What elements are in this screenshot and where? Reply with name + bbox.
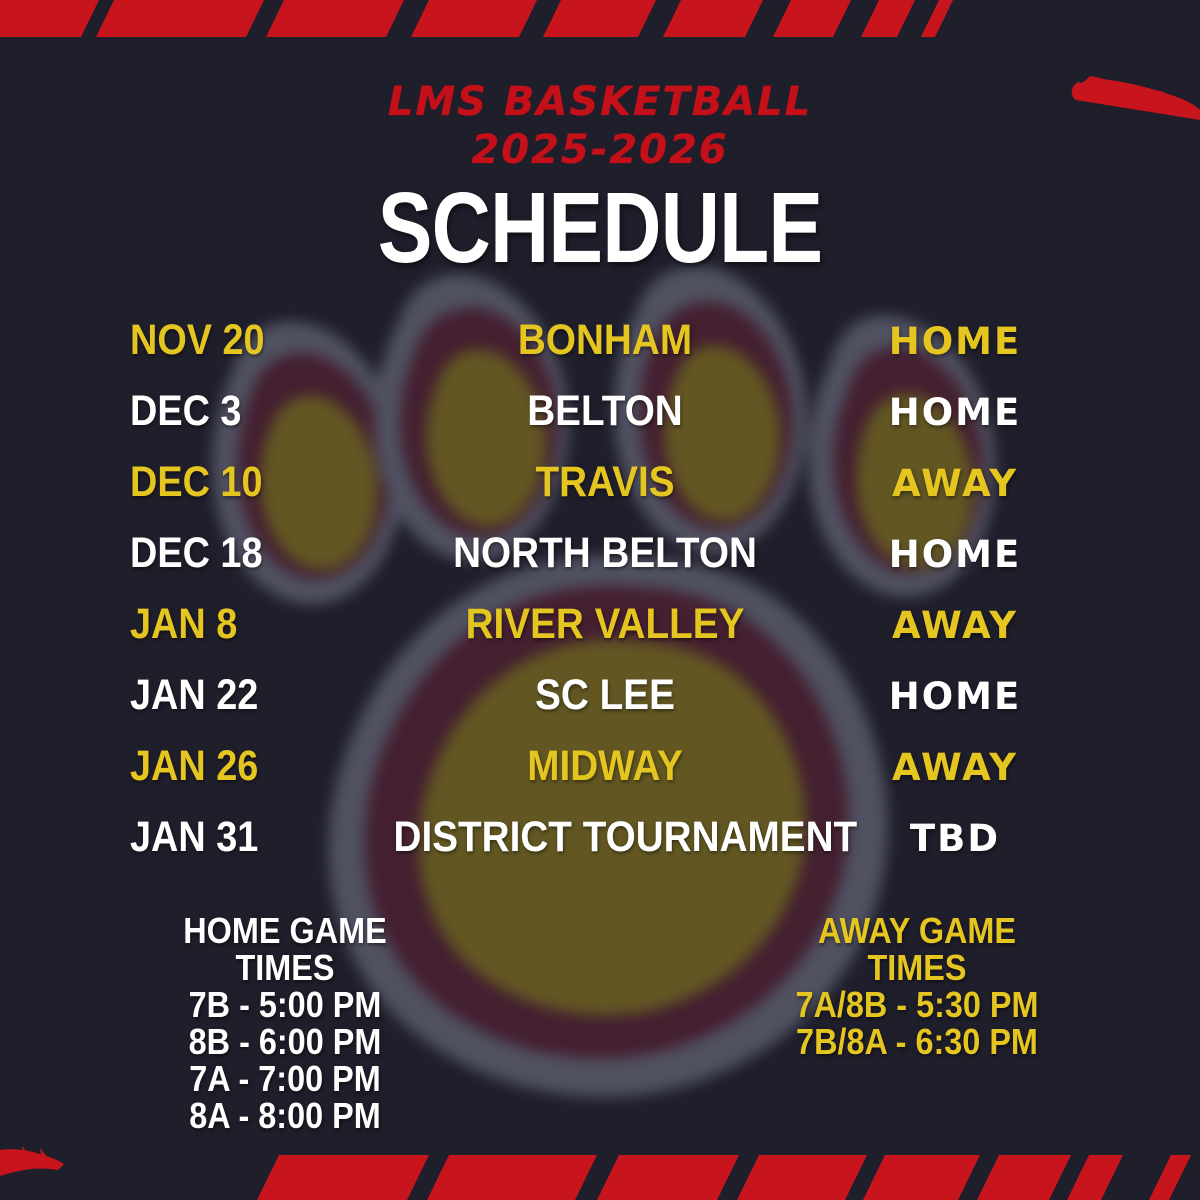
table-row: JAN 31 DISTRICT TOURNAMENT TBD (130, 813, 1070, 884)
home-game-time-line: 8B - 6:00 PM (137, 1023, 434, 1060)
page-title: SCHEDULE (108, 178, 1092, 278)
row-location: AWAY (840, 462, 1070, 505)
schedule-table: NOV 20 BONHAM HOME DEC 3 BELTON HOME DEC… (130, 316, 1070, 884)
row-date: JAN 31 (130, 813, 341, 862)
stripe-top-8 (861, 0, 915, 37)
row-opponent: DISTRICT TOURNAMENT (394, 813, 817, 862)
row-location: AWAY (840, 604, 1070, 647)
row-location: HOME (840, 675, 1070, 718)
stripe-top-3 (266, 0, 404, 37)
row-opponent: MIDWAY (394, 742, 817, 791)
stripe-bottom-1 (257, 1155, 429, 1200)
row-location: HOME (840, 533, 1070, 576)
row-date: DEC 3 (130, 387, 341, 436)
stripe-bottom-5 (863, 1155, 980, 1200)
away-game-times-block: AWAY GAME TIMES 7A/8B - 5:30 PM 7B/8A - … (752, 912, 1082, 1060)
table-row: DEC 3 BELTON HOME (130, 387, 1070, 458)
stripe-top-5 (543, 0, 656, 37)
stripe-top-1 (0, 0, 99, 37)
table-row: NOV 20 BONHAM HOME (130, 316, 1070, 387)
row-location: HOME (840, 320, 1070, 363)
brush-stroke-bottom-left (0, 1140, 70, 1180)
row-opponent: BONHAM (394, 316, 817, 365)
stripe-top-7 (773, 0, 851, 37)
stripe-bottom-2 (427, 1155, 597, 1200)
row-location: AWAY (840, 746, 1070, 789)
table-row: JAN 8 RIVER VALLEY AWAY (130, 600, 1070, 671)
script-subtitle-line2: 2025-2026 (0, 130, 1200, 171)
row-date: DEC 18 (130, 529, 341, 578)
script-subtitle-line1: LMS BASKETBALL (0, 82, 1200, 123)
table-row: JAN 26 MIDWAY AWAY (130, 742, 1070, 813)
row-opponent: SC LEE (394, 671, 817, 720)
home-game-time-line: 7A - 7:00 PM (137, 1060, 434, 1097)
row-opponent: TRAVIS (394, 458, 817, 507)
table-row: JAN 22 SC LEE HOME (130, 671, 1070, 742)
row-date: JAN 22 (130, 671, 341, 720)
stripe-bottom-8 (1149, 1155, 1191, 1200)
home-game-times-heading: HOME GAME TIMES (137, 912, 434, 986)
home-game-time-line: 7B - 5:00 PM (137, 986, 434, 1023)
away-game-times-heading: AWAY GAME TIMES (769, 912, 1066, 986)
stripe-top-6 (663, 0, 763, 37)
table-row: DEC 18 NORTH BELTON HOME (130, 529, 1070, 600)
away-game-time-line: 7B/8A - 6:30 PM (769, 1023, 1066, 1060)
stripe-bottom-3 (597, 1155, 739, 1200)
row-date: JAN 26 (130, 742, 341, 791)
row-opponent: RIVER VALLEY (394, 600, 817, 649)
row-opponent: BELTON (394, 387, 817, 436)
row-date: NOV 20 (130, 316, 341, 365)
stripe-bottom-4 (737, 1155, 867, 1200)
stripe-top-4 (411, 0, 537, 37)
row-location: HOME (840, 391, 1070, 434)
home-game-times-block: HOME GAME TIMES 7B - 5:00 PM 8B - 6:00 P… (120, 912, 450, 1134)
row-date: DEC 10 (130, 458, 341, 507)
row-opponent: NORTH BELTON (394, 529, 817, 578)
row-date: JAN 8 (130, 600, 341, 649)
table-row: DEC 10 TRAVIS AWAY (130, 458, 1070, 529)
away-game-time-line: 7A/8B - 5:30 PM (769, 986, 1066, 1023)
stripe-top-9 (921, 0, 953, 37)
row-location: TBD (840, 817, 1070, 860)
stripe-bottom-7 (1067, 1155, 1123, 1200)
stripe-bottom-6 (977, 1155, 1071, 1200)
stripe-top-2 (96, 0, 264, 37)
home-game-time-line: 8A - 8:00 PM (137, 1097, 434, 1134)
schedule-poster: LMS BASKETBALL 2025-2026 SCHEDULE NOV 20… (0, 0, 1200, 1200)
